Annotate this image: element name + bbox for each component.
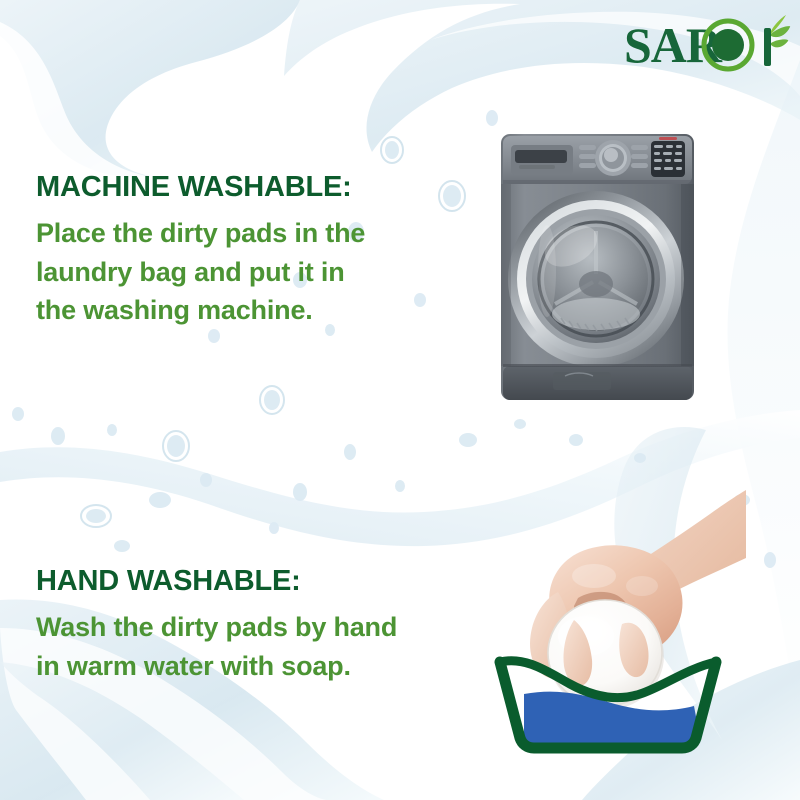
machine-washable-line-1: Place the dirty pads in the — [36, 214, 456, 252]
hand-washable-heading: HAND WASHABLE: — [36, 566, 466, 596]
product-care-instructions-poster: SAR MACHINE WASHABLE: Place the dirty pa… — [0, 0, 800, 800]
machine-washable-line-2: laundry bag and put it in — [36, 253, 456, 291]
hand-washable-section: HAND WASHABLE: Wash the dirty pads by ha… — [36, 566, 466, 685]
machine-washable-section: MACHINE WASHABLE: Place the dirty pads i… — [36, 172, 456, 329]
brand-logo: SAR — [624, 14, 792, 76]
svg-text:SAR: SAR — [624, 17, 723, 73]
machine-washable-heading: MACHINE WASHABLE: — [36, 172, 456, 202]
hand-washable-line-1: Wash the dirty pads by hand — [36, 608, 466, 646]
hand-washable-body: Wash the dirty pads by hand in warm wate… — [36, 608, 466, 685]
hand-washing-pad-image — [466, 480, 746, 755]
hand-washable-line-2: in warm water with soap. — [36, 647, 466, 685]
washing-machine-image — [495, 128, 700, 406]
machine-washable-body: Place the dirty pads in the laundry bag … — [36, 214, 456, 329]
machine-washable-line-3: the washing machine. — [36, 291, 456, 329]
